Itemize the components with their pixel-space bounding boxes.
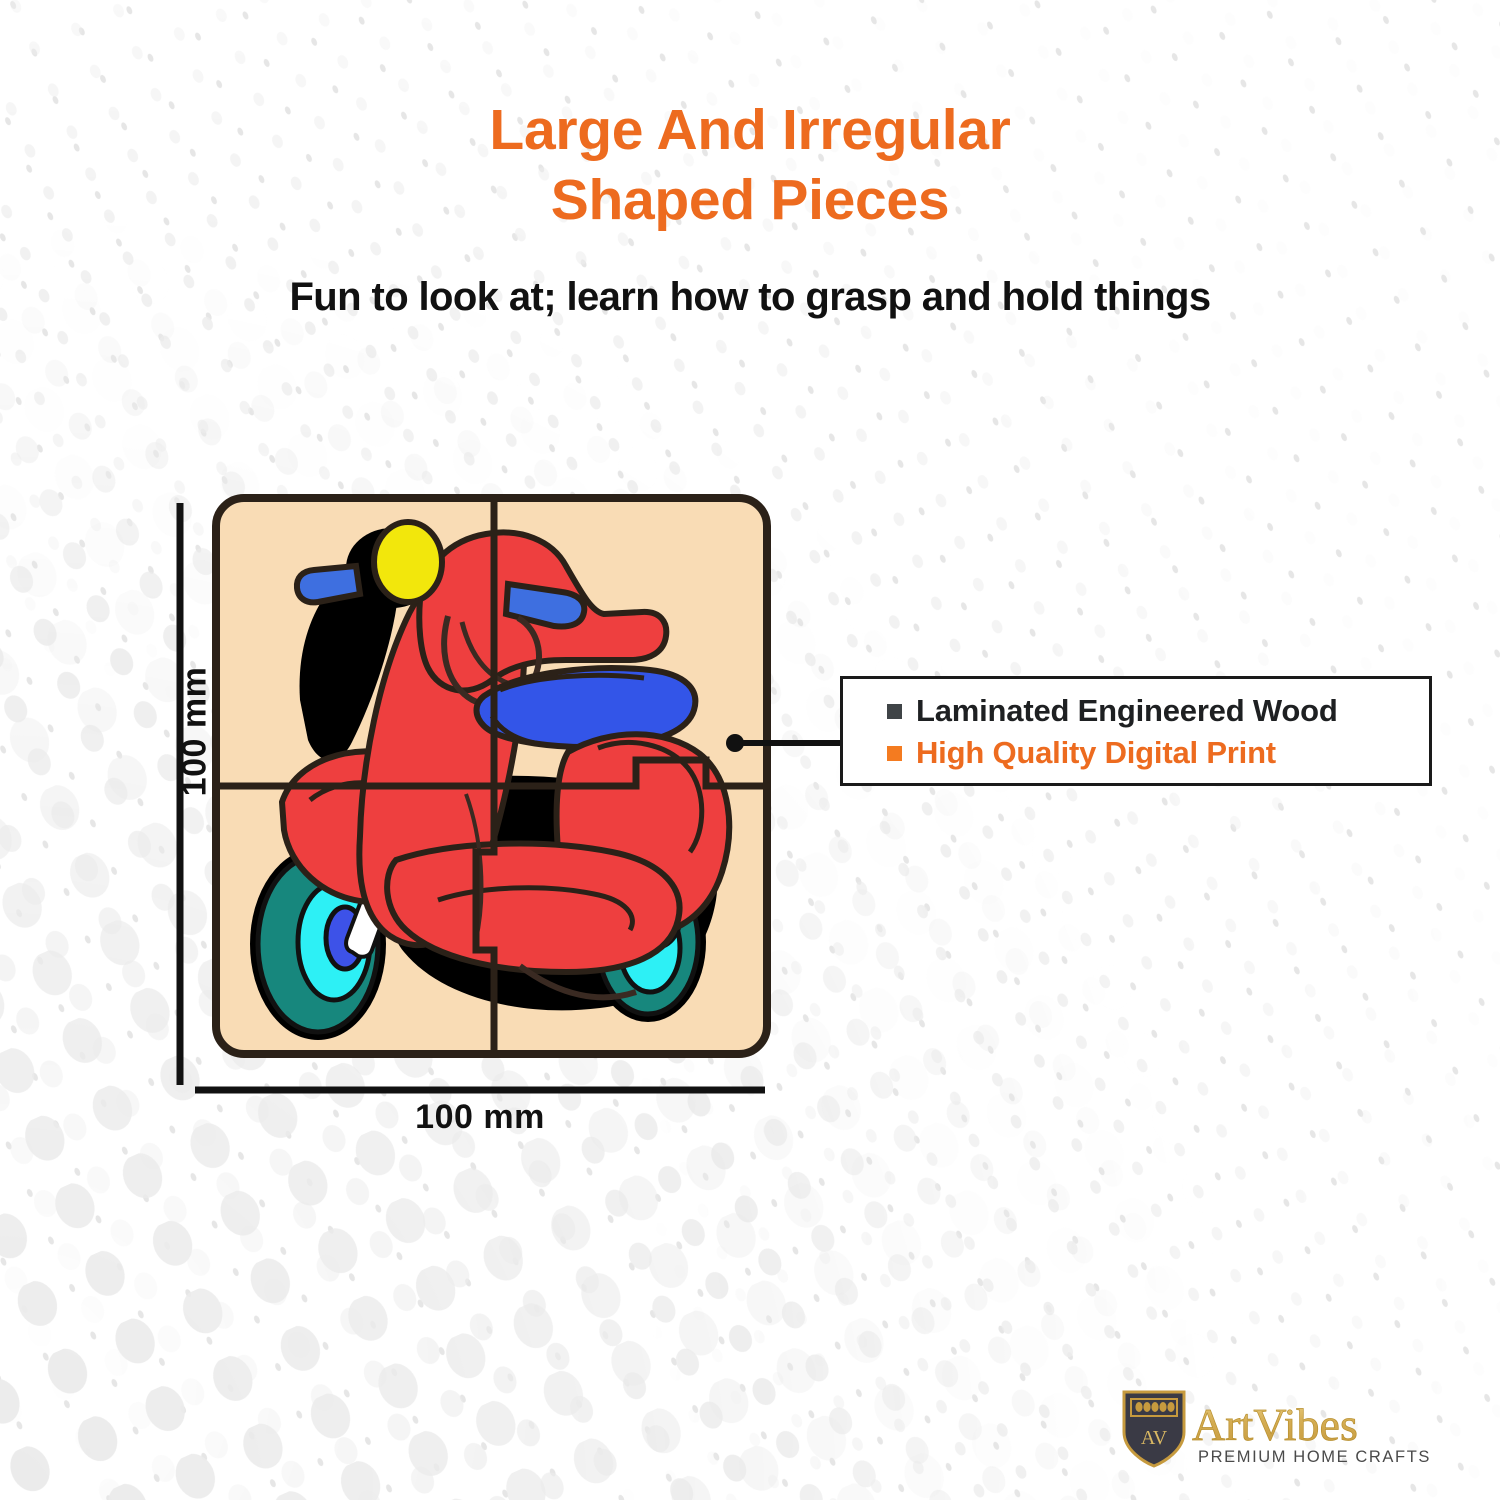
header-block: Large And Irregular Shaped Pieces Fun to… (0, 0, 1500, 320)
bullet-square-icon (887, 746, 902, 761)
brand-tagline: PREMIUM HOME CRAFTS (1198, 1448, 1431, 1466)
dimension-label-height: 100 mm (176, 642, 215, 822)
features-callout: Laminated Engineered Wood High Quality D… (840, 676, 1432, 786)
brand-name: ArtVibes (1192, 1399, 1358, 1450)
callout-item-label: Laminated Engineered Wood (916, 693, 1338, 729)
callout-item-1: High Quality Digital Print (887, 732, 1429, 774)
puzzle-board[interactable] (216, 498, 767, 1054)
page-title: Large And Irregular Shaped Pieces (0, 96, 1500, 235)
brand-logo: AV ArtVibes PREMIUM HOME CRAFTS (1118, 1388, 1448, 1480)
monogram-text: AV (1141, 1427, 1168, 1449)
callout-item-label: High Quality Digital Print (916, 735, 1276, 771)
callout-item-0: Laminated Engineered Wood (887, 690, 1429, 732)
shield-icon: AV (1124, 1392, 1184, 1466)
bullet-square-icon (887, 704, 902, 719)
page-subtitle: Fun to look at; learn how to grasp and h… (0, 275, 1500, 320)
dimension-label-width: 100 mm (195, 1098, 765, 1137)
